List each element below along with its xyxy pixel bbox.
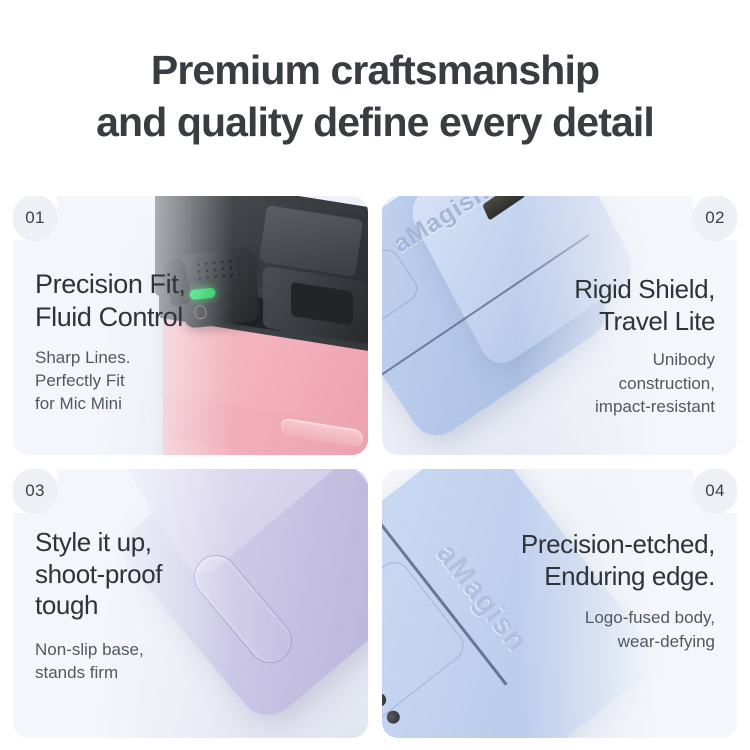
card-subtitle-03: Non-slip base, stands firm: [35, 638, 162, 684]
feature-card-02[interactable]: aMagisn 02 Rigid Shield, Travel Lite Uni…: [382, 196, 737, 455]
card-title-03: Style it up, shoot-proof tough: [35, 527, 162, 622]
feature-card-03[interactable]: 03 Style it up, shoot-proof tough Non-sl…: [13, 469, 368, 738]
card-text-block-03: Style it up, shoot-proof tough Non-slip …: [35, 527, 162, 684]
card-title-01: Precision Fit, Fluid Control: [35, 268, 185, 334]
card-subtitle-01: Sharp Lines. Perfectly Fit for Mic Mini: [35, 346, 185, 415]
card-title-04: Precision-etched, Enduring edge.: [521, 529, 715, 592]
card-number-badge-04: 04: [692, 469, 737, 514]
page-title-line-1: Premium craftsmanship: [0, 44, 750, 96]
page-title-line-2: and quality define every detail: [0, 96, 750, 148]
card-number-badge-01: 01: [13, 196, 58, 241]
feature-card-01[interactable]: 01 Precision Fit, Fluid Control Sharp Li…: [13, 196, 368, 455]
feature-card-04[interactable]: aMagisn 04 Precision-etched, Enduring ed…: [382, 469, 737, 738]
card-text-block-04: Precision-etched, Enduring edge. Logo-fu…: [521, 529, 715, 653]
card-text-block-02: Rigid Shield, Travel Lite Unibody constr…: [574, 274, 715, 418]
card-number-badge-03: 03: [13, 469, 58, 514]
card-subtitle-04: Logo-fused body, wear-defying: [521, 606, 715, 652]
feature-card-grid: 01 Precision Fit, Fluid Control Sharp Li…: [13, 196, 737, 738]
card-title-02: Rigid Shield, Travel Lite: [574, 274, 715, 337]
card-number-badge-02: 02: [692, 196, 737, 241]
page-title: Premium craftsmanship and quality define…: [0, 0, 750, 149]
card-text-block-01: Precision Fit, Fluid Control Sharp Lines…: [35, 268, 185, 415]
card-subtitle-02: Unibody construction, impact-resistant: [574, 348, 715, 417]
